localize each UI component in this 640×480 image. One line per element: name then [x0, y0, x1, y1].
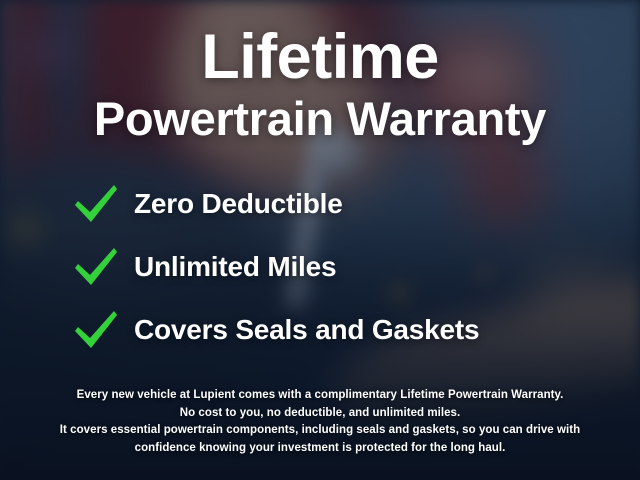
headline-line-2: Powertrain Warranty: [0, 91, 640, 146]
benefit-label: Zero Deductible: [134, 188, 343, 220]
benefit-item-covers-seals-and-gaskets: Covers Seals and Gaskets: [72, 298, 640, 361]
footnote-block: Every new vehicle at Lupient comes with …: [0, 387, 640, 458]
footnote-line: No cost to you, no deductible, and unlim…: [26, 405, 614, 423]
footnote-line: Every new vehicle at Lupient comes with …: [26, 387, 614, 405]
footnote-line: It covers essential powertrain component…: [26, 422, 614, 440]
footnote-line: confidence knowing your investment is pr…: [26, 440, 614, 458]
headline-line-1: Lifetime: [0, 26, 640, 89]
benefits-list: Zero Deductible Unlimited Miles Covers S…: [0, 172, 640, 361]
warranty-promo-banner: Lifetime Powertrain Warranty Zero Deduct…: [0, 0, 640, 480]
benefit-item-unlimited-miles: Unlimited Miles: [72, 235, 640, 298]
headline-block: Lifetime Powertrain Warranty: [0, 0, 640, 146]
check-mark-icon: [72, 182, 120, 226]
benefit-item-zero-deductible: Zero Deductible: [72, 172, 640, 235]
benefit-label: Unlimited Miles: [134, 251, 336, 283]
check-mark-icon: [72, 245, 120, 289]
check-mark-icon: [72, 308, 120, 352]
benefit-label: Covers Seals and Gaskets: [134, 314, 479, 346]
